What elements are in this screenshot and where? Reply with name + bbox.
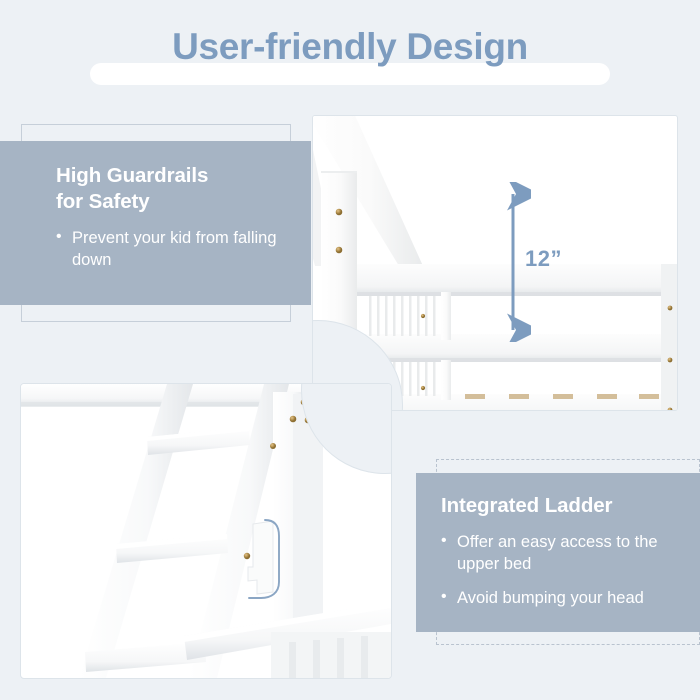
guardrails-bullet-list: Prevent your kid from falling down [56, 227, 301, 271]
list-item: Offer an easy access to the upper bed [441, 531, 694, 575]
guardrails-info-panel: High Guardrails for Safety Prevent your … [0, 141, 311, 305]
guardrails-heading: High Guardrails for Safety [56, 163, 301, 215]
ladder-photo [20, 383, 392, 679]
ladder-info-panel: Integrated Ladder Offer an easy access t… [416, 473, 700, 632]
list-item: Avoid bumping your head [441, 587, 694, 609]
page-title: User-friendly Design [0, 26, 700, 68]
ladder-bullet-list: Offer an easy access to the upper bed Av… [441, 531, 694, 609]
ladder-heading: Integrated Ladder [441, 493, 694, 519]
guardrails-heading-line-2: for Safety [56, 189, 301, 215]
guardrails-heading-line-1: High Guardrails [56, 163, 301, 189]
measurement-label: 12” [525, 246, 562, 272]
infographic-canvas: User-friendly Design [0, 0, 700, 700]
list-item: Prevent your kid from falling down [56, 227, 301, 271]
